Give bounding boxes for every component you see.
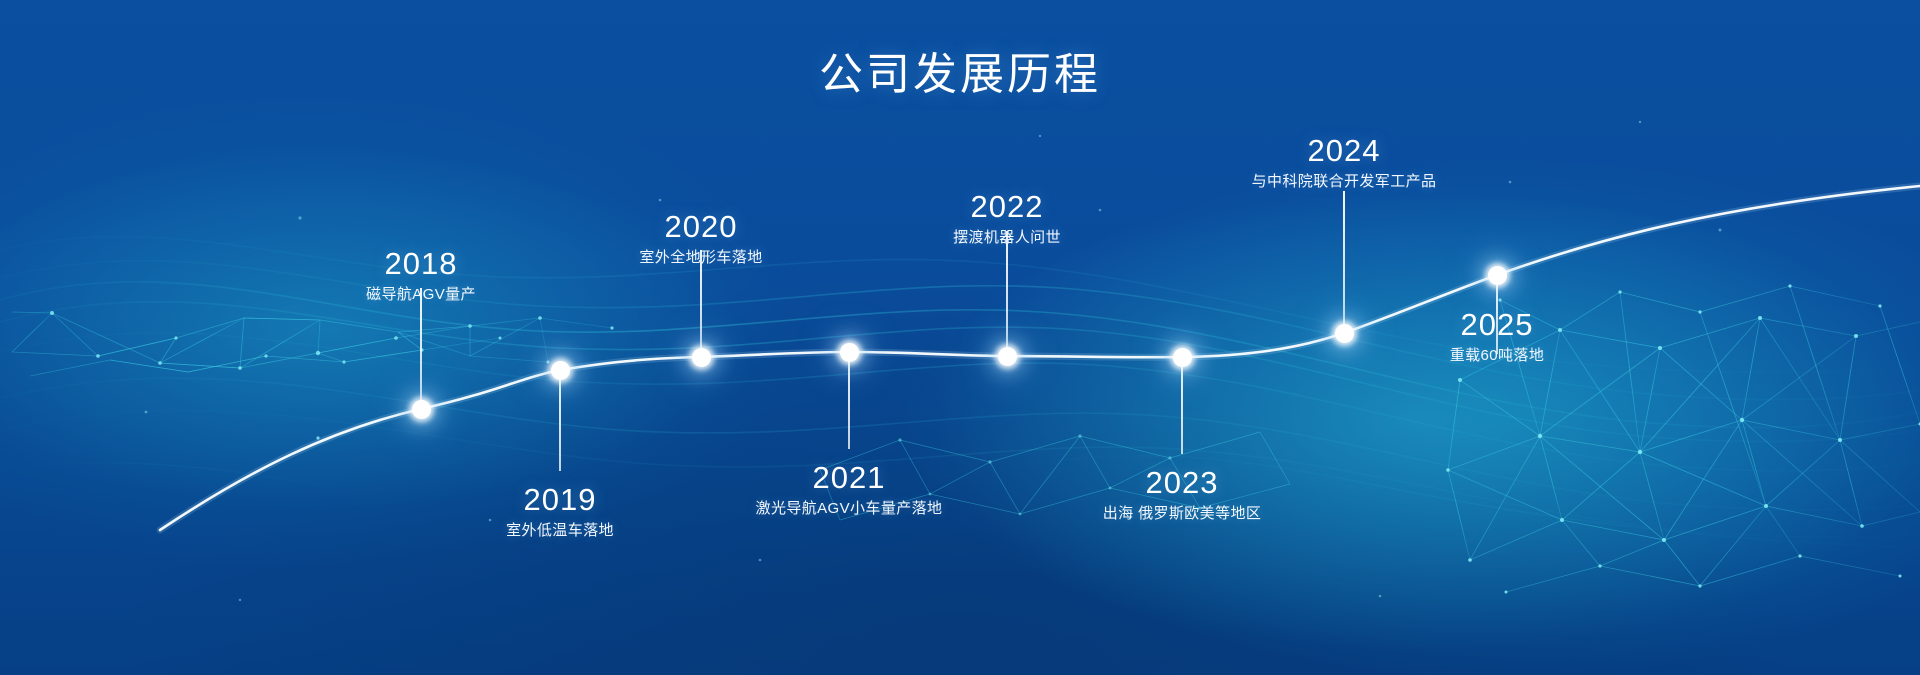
timeline-node-2023[interactable] [1173, 348, 1192, 367]
timeline-node-2024[interactable] [1335, 324, 1354, 343]
timeline-label-2018[interactable]: 2018磁导航AGV量产 [366, 245, 476, 307]
milestone-description: 激光导航AGV小车量产落地 [756, 497, 943, 521]
timeline-label-2022[interactable]: 2022摆渡机器人问世 [953, 188, 1061, 250]
page-title: 公司发展历程 [0, 38, 1920, 102]
timeline-label-2020[interactable]: 2020室外全地形车落地 [639, 208, 762, 270]
milestone-description: 室外全地形车落地 [639, 246, 762, 270]
milestone-description: 摆渡机器人问世 [953, 226, 1061, 250]
milestone-description: 重载60吨落地 [1450, 344, 1545, 368]
milestone-year: 2024 [1252, 132, 1437, 170]
milestone-description: 磁导航AGV量产 [366, 283, 476, 307]
timeline-node-2019[interactable] [551, 361, 570, 380]
timeline-node-2021[interactable] [840, 343, 859, 362]
timeline-connector-stem [1181, 366, 1183, 454]
timeline-node-2025[interactable] [1488, 266, 1507, 285]
milestone-year: 2025 [1450, 306, 1545, 344]
timeline-node-2018[interactable] [412, 400, 431, 419]
milestone-year: 2022 [953, 188, 1061, 226]
milestone-description: 与中科院联合开发军工产品 [1252, 170, 1437, 194]
milestone-year: 2023 [1103, 464, 1262, 502]
infographic-canvas: 公司发展历程 2018磁导航AGV量产2019室外低温车落地2020室外全地形车… [0, 0, 1920, 675]
milestone-year: 2020 [639, 208, 762, 246]
timeline-label-2024[interactable]: 2024与中科院联合开发军工产品 [1252, 132, 1437, 194]
milestone-year: 2019 [506, 481, 614, 519]
milestone-description: 出海 俄罗斯欧美等地区 [1103, 502, 1262, 526]
timeline-connector-stem [559, 379, 561, 471]
timeline-node-2022[interactable] [998, 347, 1017, 366]
milestone-year: 2018 [366, 245, 476, 283]
timeline-node-2020[interactable] [692, 348, 711, 367]
milestone-year: 2021 [756, 459, 943, 497]
timeline-label-2025[interactable]: 2025重载60吨落地 [1450, 306, 1545, 368]
timeline-connector-stem [848, 361, 850, 449]
timeline-label-2023[interactable]: 2023出海 俄罗斯欧美等地区 [1103, 464, 1262, 526]
timeline-label-2021[interactable]: 2021激光导航AGV小车量产落地 [756, 459, 943, 521]
timeline-connector-stem [1343, 191, 1345, 324]
timeline-label-2019[interactable]: 2019室外低温车落地 [506, 481, 614, 543]
milestone-description: 室外低温车落地 [506, 519, 614, 543]
